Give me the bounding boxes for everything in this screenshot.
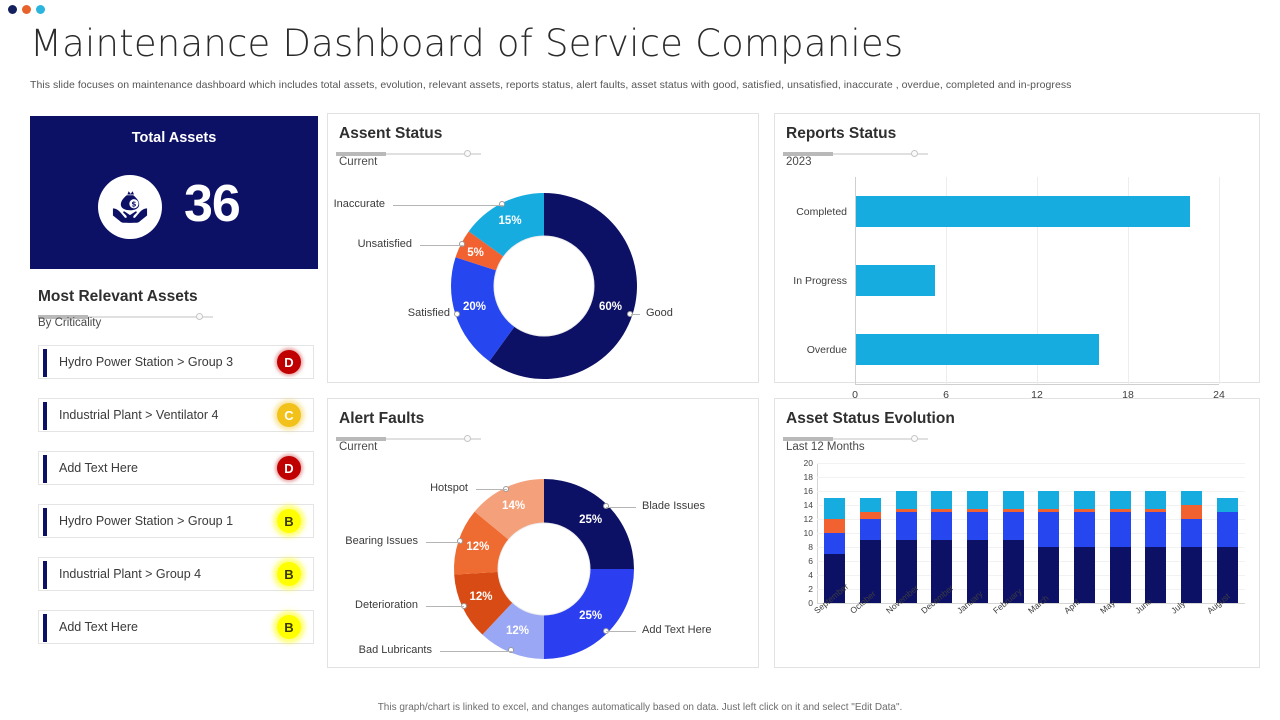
pie-slice-label: Unsatisfied (358, 238, 412, 250)
stacked-bar-segment[interactable] (1181, 505, 1202, 519)
stacked-bar[interactable] (1110, 491, 1131, 603)
asset-status-evolution-stacked-bar-chart: 02468101214161820SeptemberOctoberNovembe… (817, 463, 1245, 659)
callout-leader-line (440, 651, 512, 652)
stacked-bar-segment[interactable] (1110, 512, 1131, 547)
stacked-bar-segment[interactable] (824, 519, 845, 533)
stacked-bar-segment[interactable] (1074, 491, 1095, 509)
pie-slice-value: 12% (469, 591, 492, 603)
stacked-bar[interactable] (1217, 498, 1238, 603)
stacked-bar-segment[interactable] (1181, 547, 1202, 603)
total-assets-title: Total Assets (30, 130, 318, 146)
alert-faults-title: Alert Faults (339, 410, 424, 428)
pie-slice-label: Bearing Issues (345, 535, 418, 547)
bar-category-label: Completed (796, 206, 847, 218)
alert-faults-card: Alert Faults Current 25%25%12%12%12%14%B… (327, 398, 759, 668)
stacked-bar-segment[interactable] (1145, 547, 1166, 603)
stacked-bar-segment[interactable] (1038, 491, 1059, 509)
pie-slice-label: Inaccurate (334, 198, 385, 210)
x-axis-line (855, 384, 1219, 385)
stacked-bar-segment[interactable] (1145, 512, 1166, 547)
window-dot-orange[interactable] (22, 5, 31, 14)
stacked-bar-segment[interactable] (1110, 491, 1131, 509)
stacked-bar-segment[interactable] (860, 498, 881, 512)
slider-knob[interactable] (464, 435, 471, 442)
pie-slice-label: Good (646, 307, 673, 319)
callout-leader-line (476, 489, 507, 490)
criticality-badge: C (277, 403, 301, 427)
stacked-bar-segment[interactable] (824, 498, 845, 519)
criticality-badge: B (277, 562, 301, 586)
pie-slice-value: 14% (502, 500, 525, 512)
stacked-bar-segment[interactable] (896, 512, 917, 540)
donut-svg (328, 164, 760, 382)
y-axis-tick-label: 2 (808, 584, 813, 594)
gridline-horizontal (817, 477, 1245, 478)
stacked-bar-segment[interactable] (860, 512, 881, 519)
assent-status-donut-chart: 60%20%5%15%GoodSatisfiedUnsatisfiedInacc… (328, 164, 758, 382)
bar[interactable] (856, 265, 935, 296)
pie-slice-label: Add Text Here (642, 624, 712, 636)
relevant-assets-subtitle: By Criticality (38, 317, 101, 329)
asset-list-item[interactable]: Add Text HereD (38, 451, 314, 485)
stacked-bar-segment[interactable] (931, 509, 952, 513)
stacked-bar-segment[interactable] (860, 519, 881, 540)
reports-status-bar-chart: CompletedIn ProgressOverdue06121824 (855, 177, 1219, 409)
slider-knob[interactable] (464, 150, 471, 157)
pie-slice-value: 25% (579, 514, 602, 526)
asset-accent-bar (43, 349, 47, 377)
bar[interactable] (856, 334, 1099, 365)
stacked-bar-segment[interactable] (1110, 547, 1131, 603)
y-axis-tick-label: 8 (808, 542, 813, 552)
slider-knob[interactable] (911, 435, 918, 442)
stacked-bar[interactable] (860, 498, 881, 603)
x-axis-tick-label: March (1026, 593, 1051, 616)
gridline-vertical (1219, 177, 1220, 384)
asset-list: Hydro Power Station > Group 3DIndustrial… (38, 345, 314, 663)
asset-list-item[interactable]: Industrial Plant > Group 4B (38, 557, 314, 591)
stacked-bar-segment[interactable] (1038, 512, 1059, 547)
assent-status-title: Assent Status (339, 125, 442, 143)
stacked-bar-segment[interactable] (931, 512, 952, 540)
y-axis-tick-label: 6 (808, 556, 813, 566)
pie-slice-value: 60% (599, 301, 622, 313)
pie-slice-value: 5% (467, 247, 484, 259)
criticality-badge: D (277, 456, 301, 480)
asset-status-evolution-card: Asset Status Evolution Last 12 Months 02… (774, 398, 1260, 668)
callout-leader-line (631, 314, 640, 315)
total-assets-card: Total Assets $ 36 (30, 116, 318, 269)
stacked-bar-segment[interactable] (1110, 509, 1131, 513)
stacked-bar-segment[interactable] (1003, 491, 1024, 509)
pie-slice-label: Deterioration (355, 599, 418, 611)
criticality-badge: B (277, 509, 301, 533)
donut-hole-outline (498, 523, 590, 615)
asset-accent-bar (43, 561, 47, 589)
stacked-bar-segment[interactable] (967, 491, 988, 509)
asset-list-item[interactable]: Hydro Power Station > Group 1B (38, 504, 314, 538)
y-axis-tick-label: 20 (804, 458, 813, 468)
money-bag-in-hands-icon: $ (98, 175, 162, 239)
asset-label: Industrial Plant > Ventilator 4 (59, 408, 218, 422)
pie-slice-value: 12% (506, 625, 529, 637)
y-axis-tick-label: 18 (804, 472, 813, 482)
relevant-assets-title: Most Relevant Assets (38, 288, 198, 306)
alert-faults-donut-chart: 25%25%12%12%12%14%Blade IssuesAdd Text H… (328, 449, 758, 667)
bar-category-label: Overdue (807, 344, 847, 356)
window-controls (8, 5, 45, 14)
page-title: Maintenance Dashboard of Service Compani… (30, 22, 903, 65)
pie-slice-value: 25% (579, 610, 602, 622)
stacked-bar-segment[interactable] (896, 491, 917, 509)
assent-status-card: Assent Status Current 60%20%5%15%GoodSat… (327, 113, 759, 383)
y-axis-tick-label: 14 (804, 500, 813, 510)
stacked-bar-segment[interactable] (1145, 509, 1166, 513)
reports-status-title: Reports Status (786, 125, 896, 143)
stacked-bar-segment[interactable] (967, 512, 988, 540)
callout-leader-line (420, 245, 463, 246)
stacked-bar[interactable] (1074, 491, 1095, 603)
asset-accent-bar (43, 614, 47, 642)
asset-accent-bar (43, 508, 47, 536)
asset-accent-bar (43, 402, 47, 430)
asset-label: Hydro Power Station > Group 1 (59, 514, 233, 528)
slider-knob[interactable] (911, 150, 918, 157)
reports-status-subtitle: 2023 (786, 156, 812, 168)
y-axis-tick-label: 4 (808, 570, 813, 580)
callout-leader-line (393, 205, 503, 206)
stacked-bar[interactable] (1003, 491, 1024, 603)
stacked-bar-segment[interactable] (1074, 512, 1095, 547)
stacked-bar-segment[interactable] (1217, 512, 1238, 547)
pie-slice-label: Hotspot (430, 482, 468, 494)
stacked-bar-segment[interactable] (1003, 509, 1024, 513)
stacked-bar-segment[interactable] (1181, 519, 1202, 547)
pie-slice-value: 15% (499, 215, 522, 227)
stacked-bar-segment[interactable] (896, 509, 917, 513)
asset-list-item[interactable]: Hydro Power Station > Group 3D (38, 345, 314, 379)
reports-status-card: Reports Status 2023 CompletedIn Progress… (774, 113, 1260, 383)
pie-slice-value: 12% (466, 541, 489, 553)
stacked-bar[interactable] (1038, 491, 1059, 603)
stacked-bar-segment[interactable] (931, 491, 952, 509)
asset-list-item[interactable]: Add Text HereB (38, 610, 314, 644)
asset-list-item[interactable]: Industrial Plant > Ventilator 4C (38, 398, 314, 432)
bar-category-label: In Progress (793, 275, 847, 287)
slider-knob[interactable] (196, 313, 203, 320)
y-axis-tick-label: 12 (804, 514, 813, 524)
asset-status-evolution-subtitle: Last 12 Months (786, 441, 865, 453)
asset-label: Hydro Power Station > Group 3 (59, 355, 233, 369)
window-dot-cyan[interactable] (36, 5, 45, 14)
y-axis-tick-label: 16 (804, 486, 813, 496)
callout-leader-line (606, 631, 636, 632)
footer-note: This graph/chart is linked to excel, and… (0, 702, 1280, 713)
stacked-bar-segment[interactable] (1145, 491, 1166, 509)
window-dot-navy[interactable] (8, 5, 17, 14)
stacked-bar-segment[interactable] (1074, 509, 1095, 513)
stacked-bar[interactable] (967, 491, 988, 603)
callout-leader-line (426, 606, 464, 607)
donut-hole-outline (494, 236, 594, 336)
pie-slice-label: Blade Issues (642, 500, 705, 512)
y-axis-tick-label: 10 (804, 528, 813, 538)
callout-leader-line (606, 507, 636, 508)
most-relevant-assets-card: Most Relevant Assets By Criticality Hydr… (30, 276, 318, 668)
gridline-horizontal (817, 463, 1245, 464)
asset-label: Add Text Here (59, 620, 138, 634)
asset-label: Add Text Here (59, 461, 138, 475)
asset-status-evolution-title: Asset Status Evolution (786, 410, 955, 428)
callout-leader-line (426, 542, 460, 543)
stacked-bar-segment[interactable] (1038, 509, 1059, 513)
slide-root: Maintenance Dashboard of Service Compani… (0, 0, 1280, 720)
criticality-badge: B (277, 615, 301, 639)
page-subtitle: This slide focuses on maintenance dashbo… (30, 79, 1071, 91)
total-assets-value: 36 (184, 174, 304, 234)
asset-accent-bar (43, 455, 47, 483)
pie-slice-label: Bad Lubricants (359, 644, 432, 656)
stacked-bar-segment[interactable] (824, 533, 845, 554)
stacked-bar[interactable] (1181, 491, 1202, 603)
criticality-badge: D (277, 350, 301, 374)
stacked-bar-segment[interactable] (1217, 498, 1238, 512)
stacked-bar-segment[interactable] (1074, 547, 1095, 603)
svg-text:$: $ (131, 199, 136, 208)
pie-slice-value: 20% (463, 301, 486, 313)
stacked-bar-segment[interactable] (1181, 491, 1202, 505)
stacked-bar-segment[interactable] (1003, 512, 1024, 540)
stacked-bar-segment[interactable] (967, 509, 988, 513)
asset-label: Industrial Plant > Group 4 (59, 567, 201, 581)
stacked-bar[interactable] (1145, 491, 1166, 603)
callout-anchor-dot (454, 311, 460, 317)
bar[interactable] (856, 196, 1190, 227)
pie-slice-label: Satisfied (408, 307, 450, 319)
